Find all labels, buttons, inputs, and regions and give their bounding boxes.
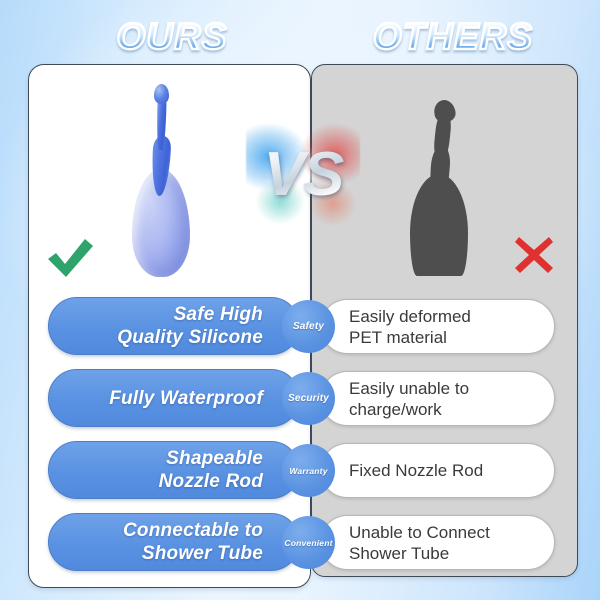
feature-others-1[interactable]: Easily unable to charge/work bbox=[320, 371, 555, 426]
feature-others-0[interactable]: Easily deformed PET material bbox=[320, 299, 555, 354]
table-row: Safe High Quality Silicone Safety Easily… bbox=[0, 297, 600, 355]
feature-ours-3-line1: Connectable to bbox=[123, 520, 263, 541]
feature-ours-0-line1: Safe High bbox=[174, 304, 263, 325]
feature-others-0-line2: PET material bbox=[349, 328, 447, 347]
badge-safety: Safety bbox=[282, 300, 335, 353]
table-row: Connectable to Shower Tube Convenient Un… bbox=[0, 513, 600, 571]
feature-ours-0-line2: Quality Silicone bbox=[117, 327, 263, 348]
feature-others-2[interactable]: Fixed Nozzle Rod bbox=[320, 443, 555, 498]
badge-security: Security bbox=[282, 372, 335, 425]
badge-warranty: Warranty bbox=[282, 444, 335, 497]
table-row: Shapeable Nozzle Rod Warranty Fixed Nozz… bbox=[0, 441, 600, 499]
feature-ours-1-line1: Fully Waterproof bbox=[109, 388, 263, 409]
feature-ours-1[interactable]: Fully Waterproof bbox=[48, 369, 300, 427]
badge-convenient: Convenient bbox=[282, 516, 335, 569]
comparison-infographic: OURS OTHERS VS Safe High Quality S bbox=[0, 0, 600, 600]
feature-others-3-line1: Unable to Connect bbox=[349, 523, 490, 542]
feature-others-3-line2: Shower Tube bbox=[349, 544, 449, 563]
feature-others-1-line1: Easily unable to bbox=[349, 379, 469, 398]
feature-ours-0[interactable]: Safe High Quality Silicone bbox=[48, 297, 300, 355]
feature-ours-3-line2: Shower Tube bbox=[142, 543, 263, 564]
feature-others-0-line1: Easily deformed bbox=[349, 307, 471, 326]
feature-ours-3[interactable]: Connectable to Shower Tube bbox=[48, 513, 300, 571]
feature-ours-2-line2: Nozzle Rod bbox=[159, 471, 263, 492]
feature-rows: Safe High Quality Silicone Safety Easily… bbox=[0, 0, 600, 600]
feature-ours-2-line1: Shapeable bbox=[166, 448, 263, 469]
feature-others-3[interactable]: Unable to Connect Shower Tube bbox=[320, 515, 555, 570]
feature-ours-2[interactable]: Shapeable Nozzle Rod bbox=[48, 441, 300, 499]
feature-others-1-line2: charge/work bbox=[349, 400, 442, 419]
feature-others-2-line1: Fixed Nozzle Rod bbox=[349, 461, 483, 480]
table-row: Fully Waterproof Security Easily unable … bbox=[0, 369, 600, 427]
